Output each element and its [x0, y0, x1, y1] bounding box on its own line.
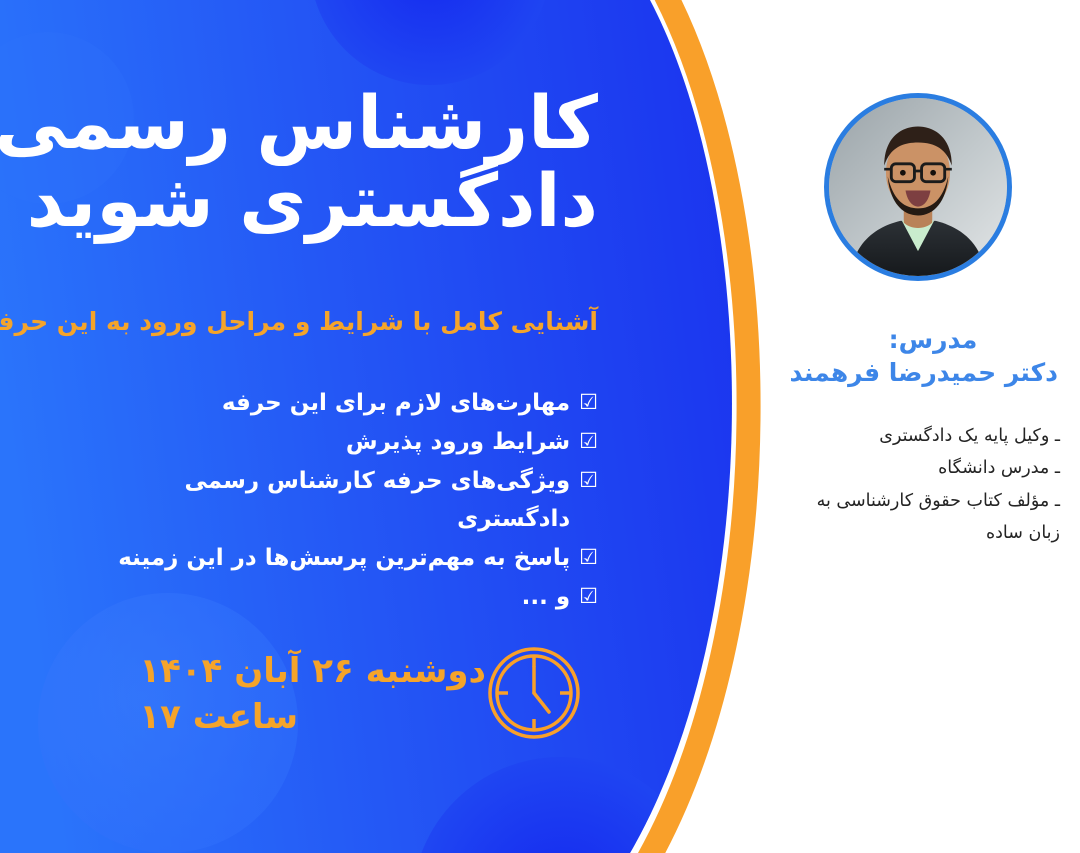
instructor-credentials: ـ وکیل پایه یک دادگستری ـ مدرس دانشگاه ـ… — [808, 420, 1060, 550]
instructor-panel: مدرس: دکتر حمیدرضا فرهمند ـ وکیل پایه یک… — [790, 0, 1080, 853]
poster-title: کارشناس رسمی دادگستری شوید — [38, 88, 598, 237]
schedule-time: ساعت ۱۷ — [139, 695, 486, 741]
credential-item: ـ مؤلف کتاب حقوق کارشناسی به زبان ساده — [808, 485, 1060, 550]
list-item-label: و ... — [98, 579, 570, 617]
credential-item: ـ مدرس دانشگاه — [808, 452, 1060, 484]
checkbox-checked-icon: ☑ — [579, 579, 598, 614]
feature-list: ☑ مهارت‌های لازم برای این حرفه ☑ شرایط و… — [98, 385, 598, 618]
schedule-text: دوشنبه ۲۶ آبان ۱۴۰۴ ساعت ۱۷ — [139, 649, 486, 741]
list-item-label: ویژگی‌های حرفه کارشناس رسمی دادگستری — [98, 463, 570, 539]
instructor-label: مدرس: — [808, 325, 1058, 354]
checkbox-checked-icon: ☑ — [579, 385, 598, 420]
instructor-name: دکتر حمیدرضا فرهمند — [808, 358, 1058, 387]
credential-item: ـ وکیل پایه یک دادگستری — [808, 420, 1060, 452]
poster-subtitle: آشنایی کامل با شرایط و مراحل ورود به این… — [38, 306, 598, 337]
schedule-date: دوشنبه ۲۶ آبان ۱۴۰۴ — [139, 649, 486, 695]
list-item-label: مهارت‌های لازم برای این حرفه — [98, 385, 570, 423]
checkbox-checked-icon: ☑ — [579, 424, 598, 459]
checkbox-checked-icon: ☑ — [579, 540, 598, 575]
list-item-label: شرایط ورود پذیرش — [98, 424, 570, 462]
poster-canvas: کارشناس رسمی دادگستری شوید آشنایی کامل ب… — [0, 0, 1080, 853]
title-line-2: دادگستری شوید — [38, 166, 598, 238]
schedule-block: دوشنبه ۲۶ آبان ۱۴۰۴ ساعت ۱۷ — [139, 645, 600, 745]
list-item: ☑ شرایط ورود پذیرش — [98, 424, 598, 462]
checkbox-checked-icon: ☑ — [579, 463, 598, 498]
list-item-label: پاسخ به مهم‌ترین پرسش‌ها در این زمینه — [98, 540, 570, 578]
list-item: ☑ مهارت‌های لازم برای این حرفه — [98, 385, 598, 423]
instructor-portrait — [824, 93, 1012, 281]
list-item: ☑ ویژگی‌های حرفه کارشناس رسمی دادگستری — [98, 463, 598, 539]
list-item: ☑ و ... — [98, 579, 598, 617]
list-item: ☑ پاسخ به مهم‌ترین پرسش‌ها در این زمینه — [98, 540, 598, 578]
title-line-1: کارشناس رسمی — [38, 88, 598, 160]
clock-icon — [486, 645, 582, 745]
